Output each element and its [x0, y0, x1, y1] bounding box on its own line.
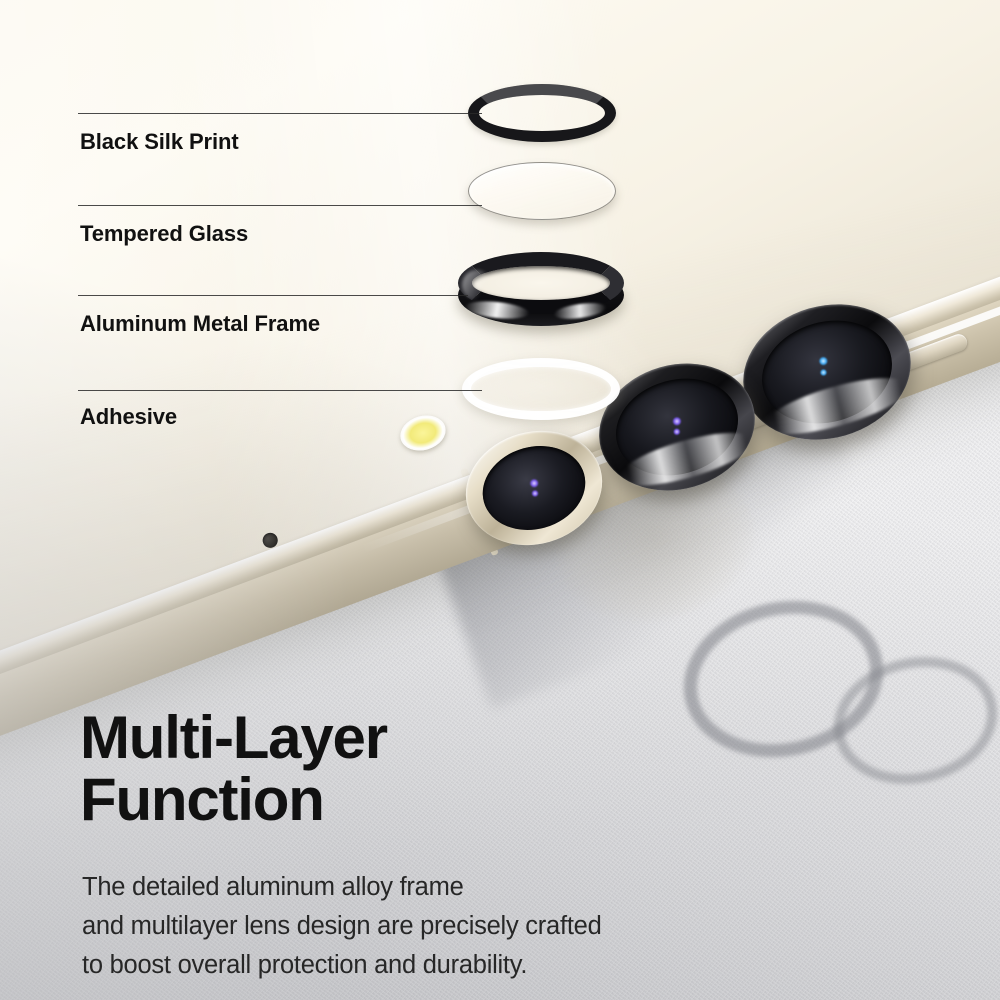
callout-label: Tempered Glass	[80, 221, 248, 247]
product-marketing-image: Black Silk Print Tempered Glass Aluminum…	[0, 0, 1000, 1000]
layer-black-silk-print	[468, 84, 616, 142]
layer-adhesive-ring	[462, 358, 620, 420]
body-copy: The detailed aluminum alloy frame and mu…	[82, 868, 602, 984]
leader-line	[78, 113, 482, 114]
leader-line	[78, 390, 482, 391]
leader-line	[78, 295, 468, 296]
callout-label: Aluminum Metal Frame	[80, 311, 320, 337]
headline: Multi-Layer Function	[80, 707, 387, 831]
layer-tempered-glass	[468, 162, 616, 220]
callout-label: Adhesive	[80, 404, 177, 430]
leader-line	[78, 205, 482, 206]
callout-label: Black Silk Print	[80, 129, 239, 155]
layer-aluminum-metal-frame	[458, 252, 624, 326]
lens-glass	[472, 434, 596, 543]
